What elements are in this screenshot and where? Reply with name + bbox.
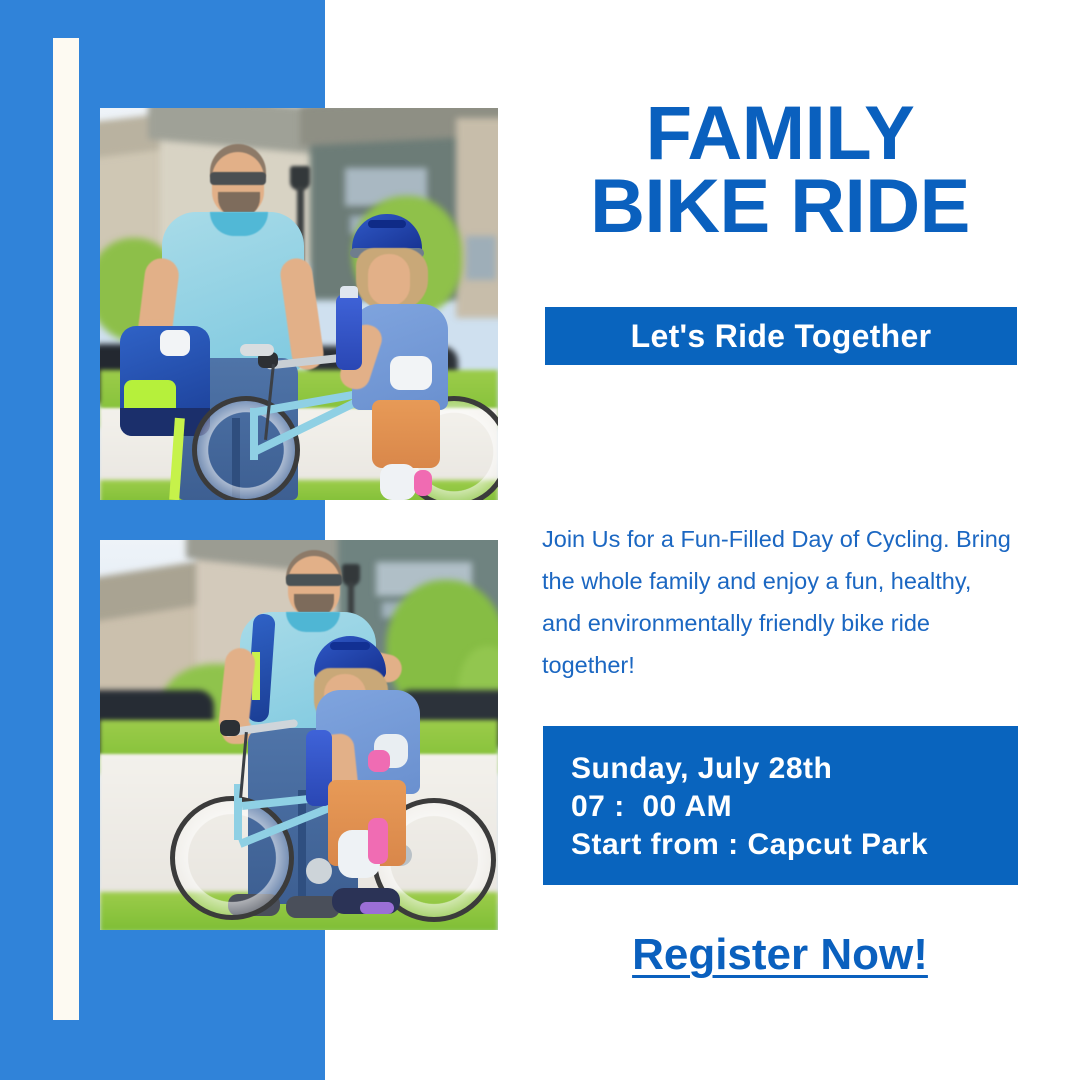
backpack-white-patch (160, 330, 190, 356)
photo-top-scene (100, 108, 498, 500)
water-bottle-cap (340, 286, 358, 298)
bicycle-rear-wheel (170, 796, 294, 920)
man-jeans-gap (298, 790, 306, 904)
bicycle-rear-wheel (192, 396, 300, 500)
cream-accent-stripe (53, 38, 79, 1020)
water-bottle (336, 294, 362, 370)
photo-bottom-scene (100, 540, 498, 930)
window-right (466, 236, 496, 280)
event-details-list: Sunday, July 28th 07 : 00 AM Start from … (571, 750, 928, 864)
child-knee-pad-pink (414, 470, 432, 496)
event-location: Start from : Capcut Park (571, 826, 928, 864)
tagline-banner: Let's Ride Together (545, 307, 1017, 365)
event-details-box: Sunday, July 28th 07 : 00 AM Start from … (543, 726, 1018, 885)
tagline-text: Let's Ride Together (631, 318, 932, 355)
child-helmet-vent (368, 220, 406, 228)
photo-dad-and-child-with-bike (100, 108, 498, 500)
photo-dad-hugging-child (100, 540, 498, 930)
child-knee-pad-pink (368, 818, 388, 864)
child-helmet-vent (330, 642, 370, 650)
bicycle-seat-tube (250, 408, 258, 460)
title-line-1: FAMILY (520, 98, 1040, 171)
child-shoe-accent (360, 902, 394, 914)
register-now-link[interactable]: Register Now! (632, 930, 928, 980)
man-sunglasses-icon (210, 172, 266, 185)
event-time: 07 : 00 AM (571, 788, 928, 826)
child-shorts (372, 400, 440, 468)
cta-container: Register Now! (520, 930, 1040, 980)
title-line-2: BIKE RIDE (520, 171, 1040, 244)
child-face (368, 254, 410, 306)
child-wrist-guard-pink (368, 750, 390, 772)
child-knee-pad (380, 464, 416, 500)
child-arm-guard (390, 356, 432, 390)
description-paragraph: Join Us for a Fun-Filled Day of Cycling.… (542, 518, 1012, 686)
page-title: FAMILY BIKE RIDE (520, 98, 1040, 244)
man-sunglasses-icon (286, 574, 342, 586)
bicycle-seat (240, 344, 274, 356)
bicycle-handlebar-grip (220, 720, 240, 736)
event-date: Sunday, July 28th (571, 750, 928, 788)
building-far-right (456, 118, 498, 318)
poster-canvas: FAMILY BIKE RIDE Let's Ride Together Joi… (0, 0, 1080, 1080)
